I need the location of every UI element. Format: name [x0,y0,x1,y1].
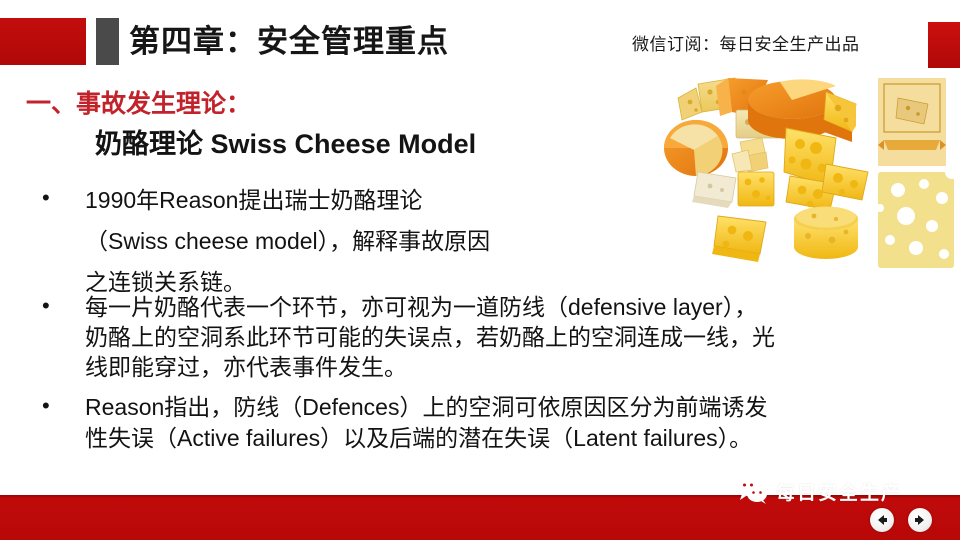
bullet-line: 奶酪上的空洞系此环节可能的失误点，若奶酪上的空洞连成一线，光 [85,322,775,352]
arrow-right-icon [913,513,927,527]
cheese-collage-image [640,76,960,276]
next-slide-button[interactable] [908,508,932,532]
bullet-marker: • [42,395,50,417]
slide-canvas: 第四章：安全管理重点 微信订阅：每日安全生产出品 一、事故发生理论： 奶酪理论 … [0,0,960,540]
list-item: • Reason指出，防线（Defences）上的空洞可依原因区分为前端诱发 性… [42,392,767,454]
bullet-line: 1990年Reason提出瑞士奶酪理论 [85,180,490,221]
bullet-line: 每一片奶酪代表一个环节，亦可视为一道防线（defensive layer）， [85,292,775,322]
bullet-text: 每一片奶酪代表一个环节，亦可视为一道防线（defensive layer）， 奶… [85,292,775,382]
bullet-marker: • [42,187,50,209]
bullet-text: Reason指出，防线（Defences）上的空洞可依原因区分为前端诱发 性失误… [85,392,767,454]
wechat-icon [736,477,768,505]
bullet-line: （Swiss cheese model），解释事故原因 [85,221,490,262]
arrow-left-icon [875,513,889,527]
bullet-line: 线即能穿过，亦代表事件发生。 [85,352,775,382]
bullet-line: 性失误（Active failures）以及后端的潜在失误（Latent fai… [85,423,767,454]
list-item: • 1990年Reason提出瑞士奶酪理论 （Swiss cheese mode… [42,180,490,303]
list-item: • 每一片奶酪代表一个环节，亦可视为一道防线（defensive layer），… [42,292,775,382]
bullet-text: 1990年Reason提出瑞士奶酪理论 （Swiss cheese model）… [85,180,490,303]
bullet-marker: • [42,295,50,317]
footer-brand-label: 每日安全生产 [776,478,902,505]
bullet-line: Reason指出，防线（Defences）上的空洞可依原因区分为前端诱发 [85,392,767,423]
previous-slide-button[interactable] [870,508,894,532]
